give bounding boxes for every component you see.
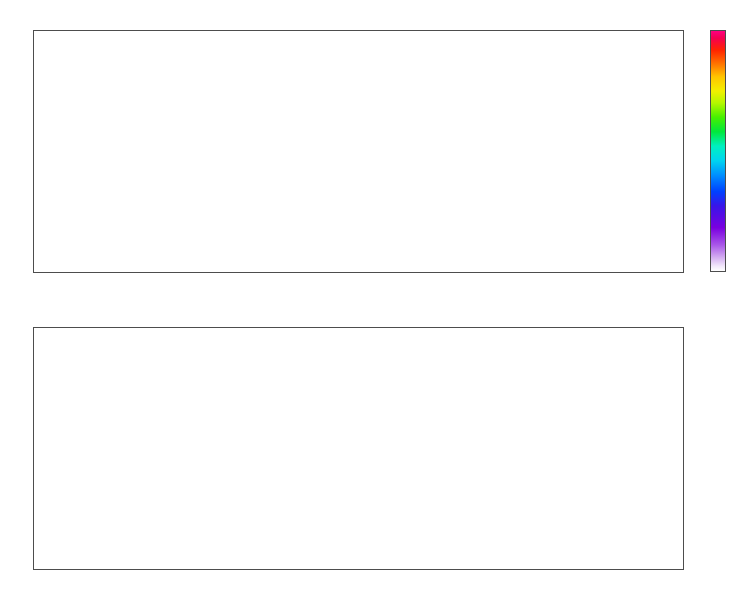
snr-trace xyxy=(34,328,683,569)
figure-root xyxy=(0,0,750,600)
snr-panel xyxy=(33,327,684,570)
spectrogram-panel xyxy=(33,30,684,273)
colorbar xyxy=(710,30,726,272)
snr-plot-area xyxy=(34,328,683,569)
spectrogram-plot-area xyxy=(34,31,683,272)
spectrogram-image xyxy=(34,31,683,272)
